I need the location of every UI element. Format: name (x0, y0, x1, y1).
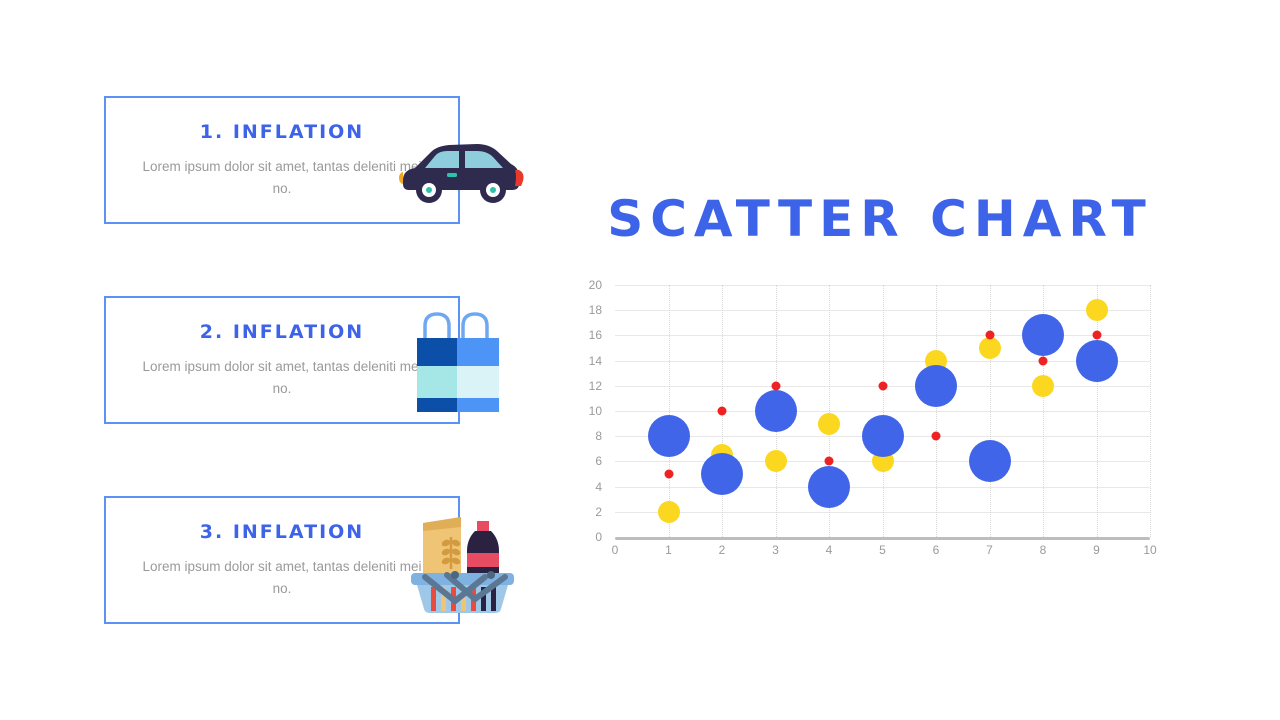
data-point-blue-bubbles (862, 415, 904, 457)
info-card-2[interactable]: 2. INFLATION Lorem ipsum dolor sit amet,… (104, 296, 460, 424)
y-tick-label: 12 (570, 379, 602, 393)
data-point-blue-bubbles (808, 466, 850, 508)
data-point-yellow-bubbles (818, 413, 840, 435)
gridline-v (883, 285, 884, 537)
data-point-blue-bubbles (755, 390, 797, 432)
x-tick-label: 2 (707, 543, 737, 557)
data-point-yellow-bubbles (979, 337, 1001, 359)
slide-canvas: 1. INFLATION Lorem ipsum dolor sit amet,… (0, 0, 1280, 720)
x-tick-label: 3 (761, 543, 791, 557)
data-point-red-dots (664, 470, 673, 479)
data-point-blue-bubbles (969, 440, 1011, 482)
info-card-2-title: 2. INFLATION (200, 321, 364, 343)
data-point-red-dots (932, 432, 941, 441)
x-tick-label: 8 (1028, 543, 1058, 557)
x-tick-label: 7 (975, 543, 1005, 557)
info-card-1-title: 1. INFLATION (200, 121, 364, 143)
x-tick-label: 4 (814, 543, 844, 557)
x-tick-label: 1 (654, 543, 684, 557)
data-point-blue-bubbles (1076, 340, 1118, 382)
info-card-1[interactable]: 1. INFLATION Lorem ipsum dolor sit amet,… (104, 96, 460, 224)
chart-title: SCATTER CHART (570, 190, 1190, 248)
y-tick-label: 8 (570, 429, 602, 443)
x-tick-label: 10 (1135, 543, 1165, 557)
x-tick-label: 6 (921, 543, 951, 557)
scatter-plot: 02468101214161820 012345678910 (570, 285, 1190, 585)
y-tick-label: 14 (570, 354, 602, 368)
x-axis-line (615, 537, 1150, 540)
info-card-2-text: Lorem ipsum dolor sit amet, tantas delen… (132, 356, 432, 400)
info-card-3-body: 3. INFLATION Lorem ipsum dolor sit amet,… (106, 498, 458, 622)
data-point-blue-bubbles (648, 415, 690, 457)
gridline-v (1150, 285, 1151, 537)
y-tick-label: 4 (570, 480, 602, 494)
gridline-v (1097, 285, 1098, 537)
y-tick-label: 16 (570, 328, 602, 342)
info-card-3[interactable]: 3. INFLATION Lorem ipsum dolor sit amet,… (104, 496, 460, 624)
y-tick-label: 0 (570, 530, 602, 544)
data-point-blue-bubbles (1022, 314, 1064, 356)
data-point-red-dots (878, 381, 887, 390)
data-point-yellow-bubbles (1032, 375, 1054, 397)
data-point-red-dots (718, 407, 727, 416)
gridline-v (669, 285, 670, 537)
data-point-red-dots (1039, 356, 1048, 365)
y-tick-label: 18 (570, 303, 602, 317)
y-tick-label: 10 (570, 404, 602, 418)
info-card-3-title: 3. INFLATION (200, 521, 364, 543)
x-tick-label: 0 (600, 543, 630, 557)
data-point-red-dots (985, 331, 994, 340)
data-point-red-dots (771, 381, 780, 390)
y-tick-label: 6 (570, 454, 602, 468)
data-point-blue-bubbles (915, 365, 957, 407)
data-point-red-dots (1092, 331, 1101, 340)
gridline-v (990, 285, 991, 537)
data-point-red-dots (825, 457, 834, 466)
info-card-1-text: Lorem ipsum dolor sit amet, tantas delen… (132, 156, 432, 200)
info-card-3-text: Lorem ipsum dolor sit amet, tantas delen… (132, 556, 432, 600)
x-tick-label: 5 (868, 543, 898, 557)
data-point-yellow-bubbles (658, 501, 680, 523)
data-point-yellow-bubbles (1086, 299, 1108, 321)
x-axis-tick-labels: 012345678910 (615, 543, 1150, 563)
y-tick-label: 2 (570, 505, 602, 519)
data-point-blue-bubbles (701, 453, 743, 495)
info-card-2-body: 2. INFLATION Lorem ipsum dolor sit amet,… (106, 298, 458, 422)
x-tick-label: 9 (1082, 543, 1112, 557)
y-tick-label: 20 (570, 278, 602, 292)
data-point-yellow-bubbles (765, 450, 787, 472)
info-card-1-body: 1. INFLATION Lorem ipsum dolor sit amet,… (106, 98, 458, 222)
chart-panel: SCATTER CHART 02468101214161820 01234567… (570, 180, 1210, 600)
plot-area (615, 285, 1150, 537)
gridline-v (936, 285, 937, 537)
